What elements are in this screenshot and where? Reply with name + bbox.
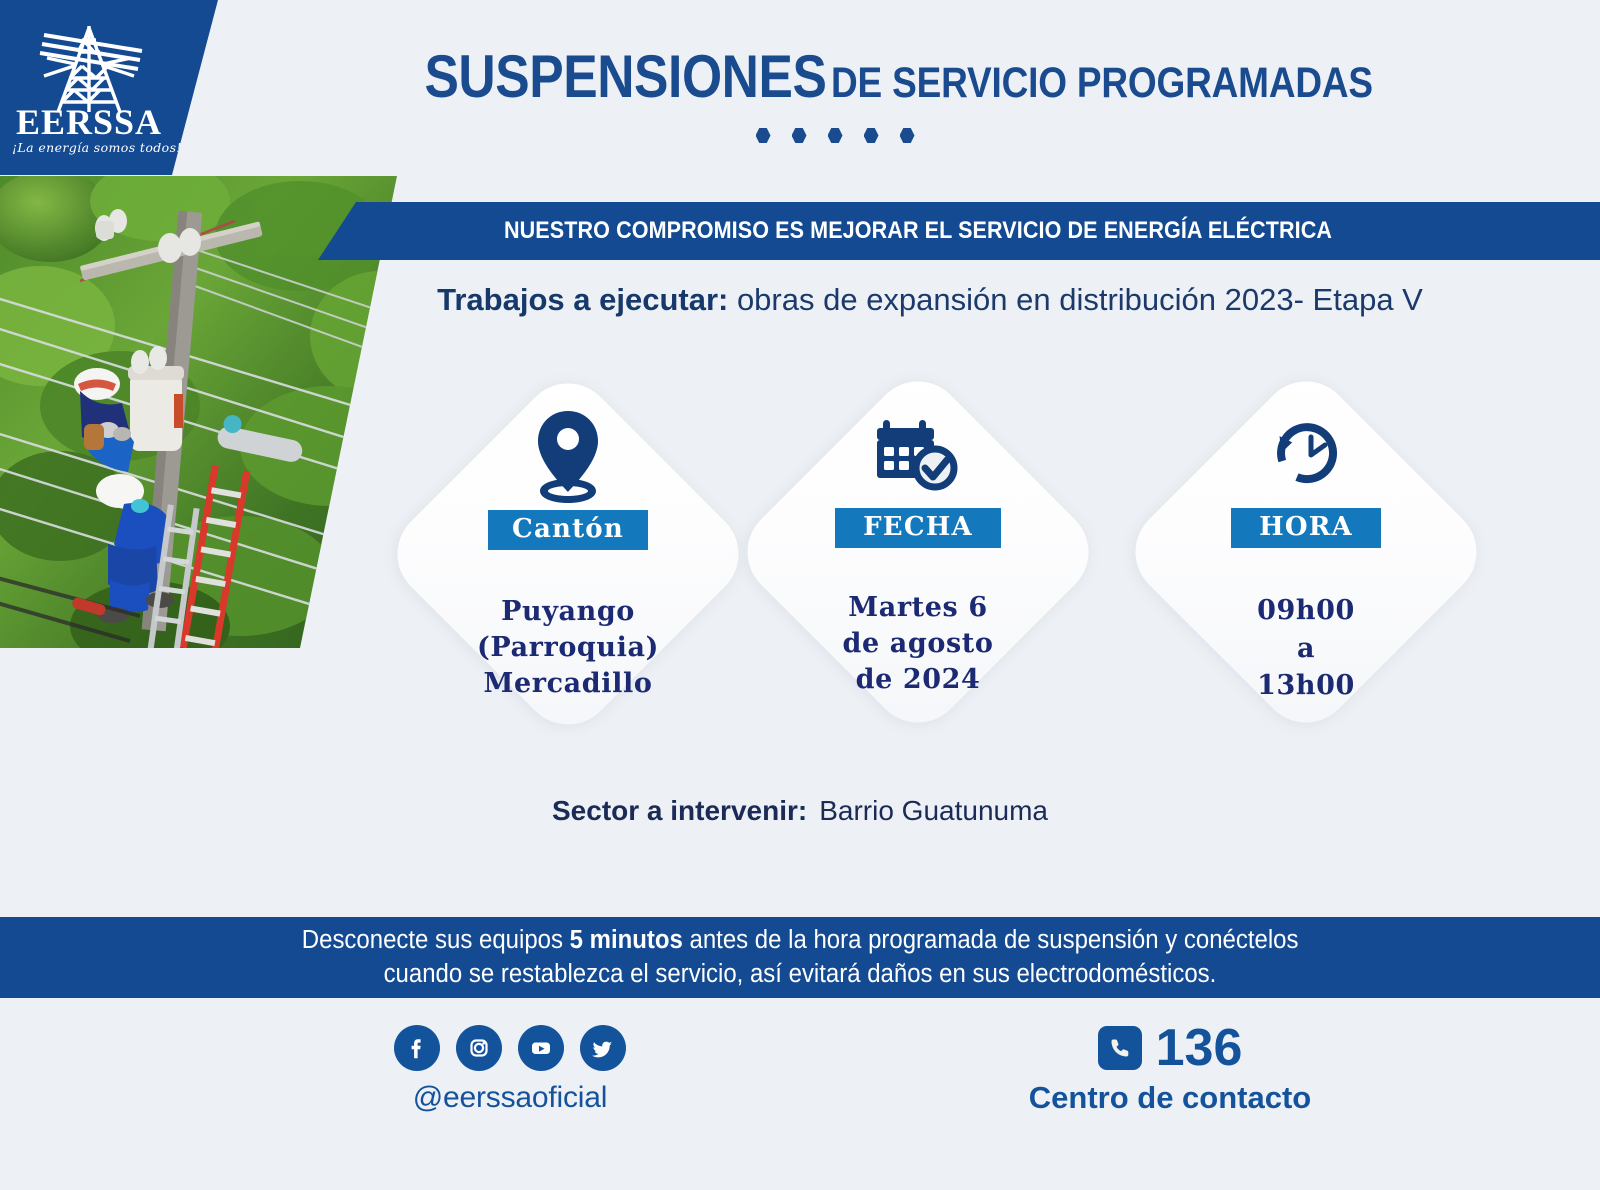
- facebook-icon[interactable]: [394, 1025, 440, 1071]
- card-badge-canton: Cantón: [488, 510, 648, 550]
- works-line: Trabajos a ejecutar: obras de expansión …: [300, 282, 1560, 318]
- svg-text:EERSSA: EERSSA: [16, 102, 162, 142]
- social-handle: @eerssaoficial: [300, 1081, 720, 1115]
- warning-text-bold: 5 minutos: [569, 926, 682, 954]
- location-pin-icon: [403, 400, 733, 510]
- contact-number-row: 136: [940, 1022, 1400, 1074]
- warning-text-c: antes de la hora programada de suspensió…: [683, 926, 1299, 954]
- card-badge-fecha: FECHA: [835, 508, 1001, 548]
- transmission-tower-icon: EERSSA: [14, 8, 164, 143]
- warning-line-2: cuando se restablezca el servicio, así e…: [384, 958, 1217, 992]
- warning-text-a: Desconecte sus equipos: [302, 926, 570, 954]
- calendar-check-icon: [753, 398, 1083, 508]
- contact-label: Centro de contacto: [940, 1080, 1400, 1116]
- card-value-fecha: Martes 6de agostode 2024: [753, 590, 1083, 697]
- social-icons-row: [300, 1025, 720, 1071]
- info-card-fecha: FECHA Martes 6de agostode 2024: [753, 398, 1083, 697]
- poster-root: EERSSA ¡La energía somos todos! SUSPENSI…: [0, 0, 1600, 1190]
- contact-number: 136: [1156, 1022, 1243, 1074]
- youtube-icon[interactable]: [518, 1025, 564, 1071]
- sector-label: Sector a intervenir:: [552, 795, 807, 826]
- instagram-icon[interactable]: [456, 1025, 502, 1071]
- commitment-text: NUESTRO COMPROMISO ES MEJORAR EL SERVICI…: [390, 202, 1446, 260]
- phone-icon[interactable]: [1098, 1026, 1142, 1070]
- twitter-icon[interactable]: [580, 1025, 626, 1071]
- contact-section: 136 Centro de contacto: [940, 1022, 1400, 1116]
- works-value: obras de expansión en distribución 2023-…: [728, 282, 1423, 317]
- info-card-canton: Cantón Puyango(Parroquia)Mercadillo: [403, 400, 733, 701]
- works-label: Trabajos a ejecutar:: [437, 282, 728, 317]
- info-card-hora: HORA 09h00a13h00: [1141, 398, 1471, 704]
- warning-line-1: Desconecte sus equipos 5 minutos antes d…: [302, 924, 1299, 958]
- social-section: @eerssaoficial: [300, 1025, 720, 1115]
- commitment-banner: NUESTRO COMPROMISO ES MEJORAR EL SERVICI…: [318, 202, 1600, 260]
- warning-banner: Desconecte sus equipos 5 minutos antes d…: [0, 917, 1600, 998]
- card-value-hora: 09h00a13h00: [1141, 592, 1471, 704]
- logo-tagline: ¡La energía somos todos!: [12, 140, 162, 155]
- sector-value: Barrio Guatunuma: [819, 795, 1048, 826]
- card-badge-hora: HORA: [1231, 508, 1381, 548]
- clock-rotate-icon: [1141, 398, 1471, 508]
- card-value-canton: Puyango(Parroquia)Mercadillo: [403, 594, 733, 701]
- sector-line: Sector a intervenir:Barrio Guatunuma: [200, 795, 1400, 827]
